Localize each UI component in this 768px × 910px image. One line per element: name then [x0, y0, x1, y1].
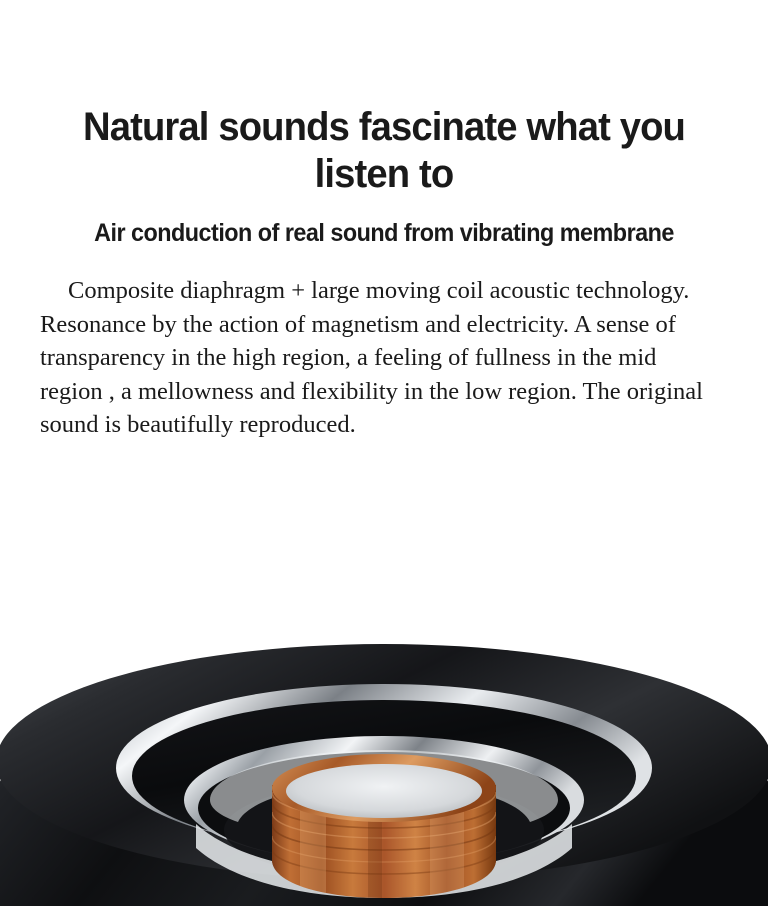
voice-coil — [272, 754, 496, 900]
body-paragraph: Composite diaphragm + large moving coil … — [0, 248, 768, 442]
page-subheadline: Air conduction of real sound from vibrat… — [25, 198, 743, 248]
page-headline: Natural sounds fascinate what you listen… — [17, 0, 750, 198]
speaker-driver-illustration — [0, 500, 768, 910]
coil-inner-surface — [286, 764, 482, 818]
product-feature-page: Natural sounds fascinate what you listen… — [0, 0, 768, 910]
text-content-block: Natural sounds fascinate what you listen… — [0, 0, 768, 442]
bottom-white-strip — [0, 906, 768, 910]
